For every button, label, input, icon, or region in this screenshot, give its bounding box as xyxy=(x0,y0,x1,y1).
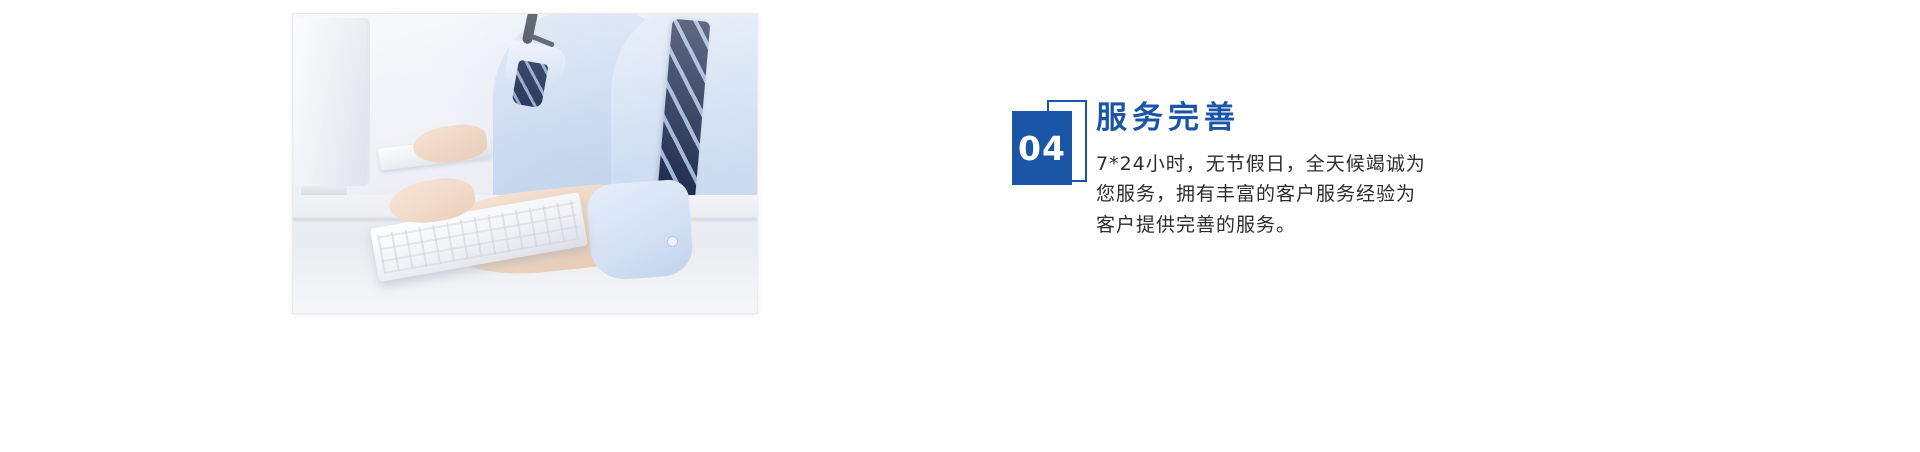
feature-description-line: 您服务，拥有丰富的客户服务经验为 xyxy=(1096,179,1496,210)
feature-description-line: 客户提供完善的服务。 xyxy=(1096,210,1496,241)
agent-front-cuff xyxy=(586,179,694,282)
feature-description: 7*24小时，无节假日，全天候竭诚为 您服务，拥有丰富的客户服务经验为 客户提供… xyxy=(1096,149,1496,241)
cuff-button-icon xyxy=(667,236,678,247)
call-center-photo-frame xyxy=(293,14,757,313)
monitor-icon xyxy=(295,18,370,186)
feature-description-line: 7*24小时，无节假日，全天候竭诚为 xyxy=(1096,149,1496,180)
call-center-photo xyxy=(293,14,757,313)
feature-number-badge: 04 xyxy=(1012,100,1090,186)
feature-text-block: 服务完善 7*24小时，无节假日，全天候竭诚为 您服务，拥有丰富的客户服务经验为… xyxy=(1096,100,1516,241)
service-banner: 04 服务完善 7*24小时，无节假日，全天候竭诚为 您服务，拥有丰富的客户服务… xyxy=(0,0,1920,452)
feature-title: 服务完善 xyxy=(1096,100,1516,137)
badge-solid-square: 04 xyxy=(1012,111,1072,185)
badge-number-label: 04 xyxy=(1018,132,1066,165)
